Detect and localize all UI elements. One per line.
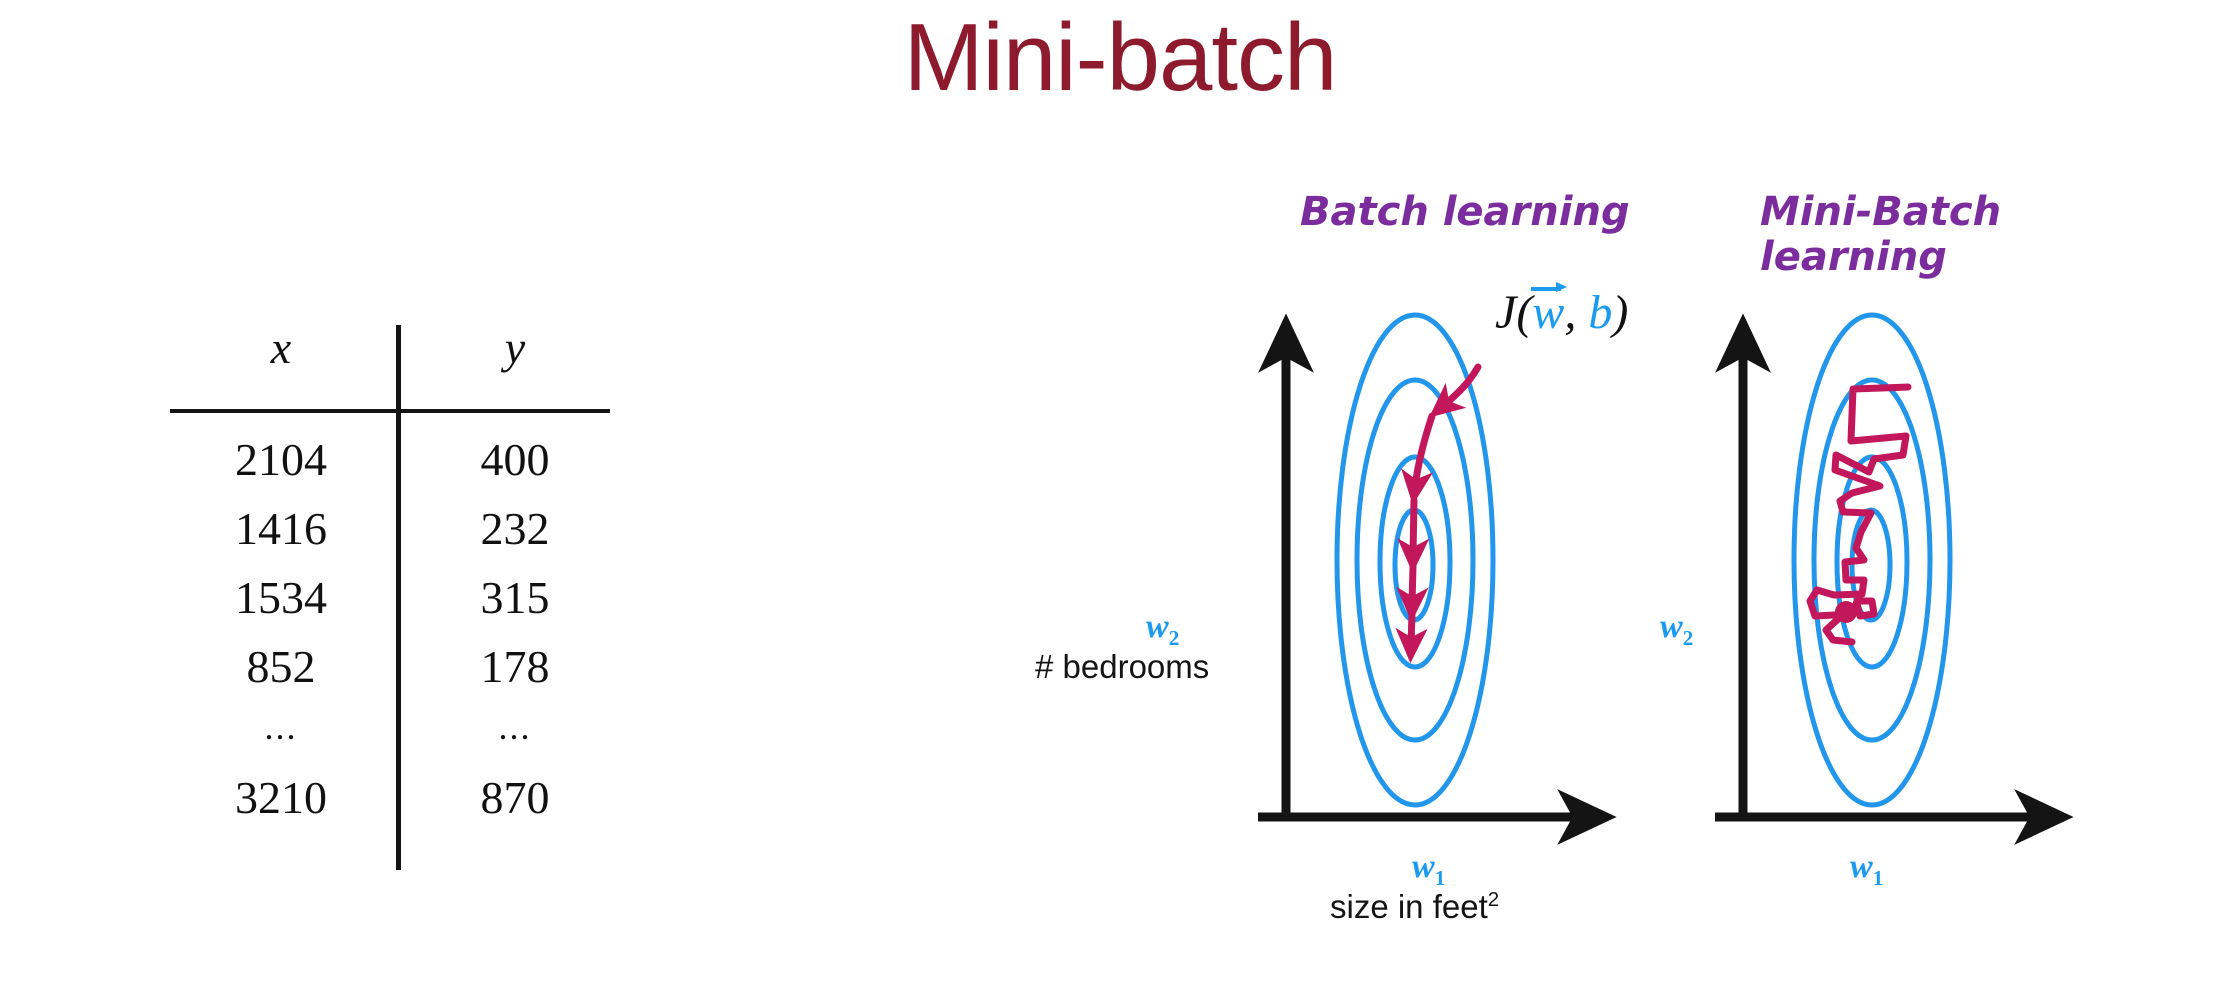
cost-close-paren: ) (1612, 286, 1628, 339)
left-plot-group (1258, 315, 1586, 817)
minibatch-gradient-descent-path (1810, 387, 1908, 642)
batch-gradient-descent-path (1411, 367, 1478, 645)
cost-open-paren: ( (1516, 286, 1532, 339)
vector-arrow-tip-icon (1556, 282, 1567, 292)
contour-ellipse (1852, 510, 1890, 620)
table-cell: 400 (404, 425, 626, 494)
table-header-x: x (170, 315, 392, 381)
contour-ellipse (1380, 457, 1450, 667)
right-plot-x-axis-variable: w1 (1850, 848, 1883, 891)
descent-step (1415, 416, 1432, 487)
mini-batch-learning-heading: Mini-Batch learning (1760, 190, 2080, 280)
left-plot-y-axis-label: # bedrooms (1035, 648, 1209, 686)
minibatch-convergence-blob (1835, 601, 1857, 623)
table-column-y: y 400 232 315 178 ... 870 (404, 315, 626, 381)
descent-step (1443, 367, 1478, 406)
table-cell: 2104 (170, 425, 392, 494)
table-header-rule (170, 409, 610, 413)
table-cell: 178 (404, 632, 626, 701)
table-cell: 1534 (170, 563, 392, 632)
descent-step (1412, 566, 1413, 604)
contour-ellipse (1794, 315, 1950, 805)
table-cell: 852 (170, 632, 392, 701)
left-plot-y-axis-variable: w2 (1146, 608, 1179, 651)
cost-w: w (1532, 286, 1564, 339)
table-column-x: x 2104 1416 1534 852 ... 3210 (170, 315, 392, 381)
left-plot-x-axis-label: size in feet2 (1330, 888, 1499, 926)
descent-step (1413, 500, 1414, 555)
table-cell: 3210 (170, 763, 392, 832)
page-title: Mini-batch (0, 8, 2240, 109)
contour-ellipse (1357, 380, 1473, 740)
table-column-divider (396, 325, 401, 870)
descent-step (1411, 614, 1412, 645)
right-plot-group (1715, 315, 2043, 817)
table-cell: 870 (404, 763, 626, 832)
contour-ellipse (1395, 510, 1433, 620)
table-cell: 315 (404, 563, 626, 632)
cost-b: b (1588, 286, 1612, 339)
table-cell-ellipsis: ... (170, 701, 392, 763)
contour-ellipse (1337, 315, 1493, 805)
left-plot-x-axis-variable: w1 (1412, 848, 1445, 891)
table-cell: 232 (404, 494, 626, 563)
contour-ellipse (1837, 457, 1907, 667)
cost-w-vector: w (1532, 285, 1564, 340)
contour-ellipse (1814, 380, 1930, 740)
cost-j: J (1495, 286, 1516, 339)
table-header-y: y (404, 315, 626, 381)
right-plot-y-axis-variable: w2 (1660, 608, 1693, 651)
table-cell-ellipsis: ... (404, 701, 626, 763)
table-column-y-cells: 400 232 315 178 ... 870 (404, 425, 626, 832)
table-column-x-cells: 2104 1416 1534 852 ... 3210 (170, 425, 392, 832)
batch-learning-heading: Batch learning (1300, 190, 1700, 235)
cost-comma: , (1564, 286, 1588, 339)
cost-function-label: J(w, b) (1495, 285, 1628, 340)
table-cell: 1416 (170, 494, 392, 563)
data-table: x 2104 1416 1534 852 ... 3210 y 400 232 … (170, 315, 630, 875)
